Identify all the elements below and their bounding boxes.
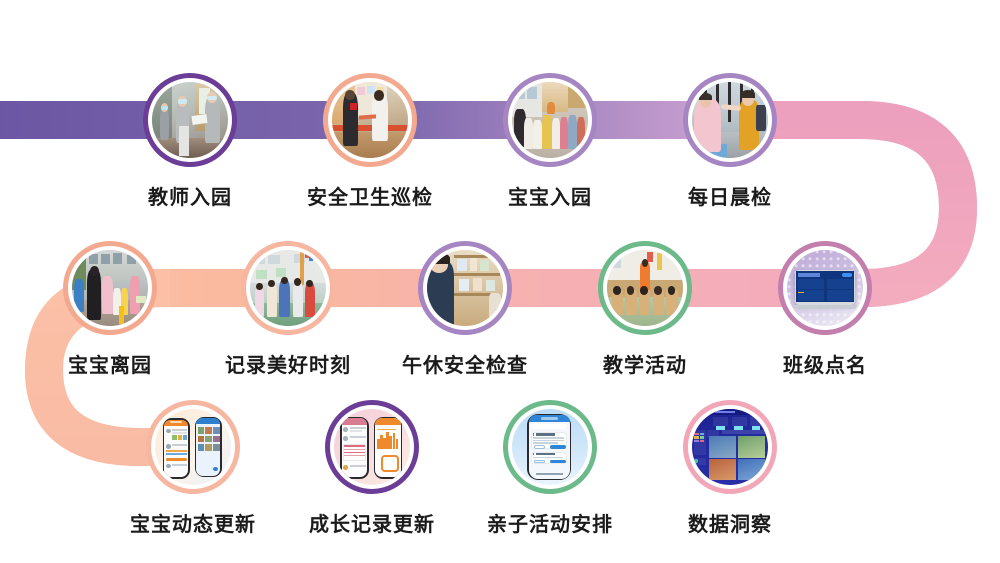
class-roll-call-screen xyxy=(787,250,863,326)
step-label-8: 记录美好时刻 xyxy=(225,349,351,378)
step-label-4: 每日晨检 xyxy=(688,181,772,210)
step-ring-5 xyxy=(778,241,872,335)
children-leaving-photo xyxy=(72,250,148,326)
step-ring-2 xyxy=(323,73,417,167)
teacher-arrival-photo xyxy=(152,82,228,158)
step-ring-7 xyxy=(418,241,512,335)
step-label-7: 午休安全检查 xyxy=(402,349,528,378)
step-ring-11 xyxy=(325,400,419,494)
step-ring-8 xyxy=(241,241,335,335)
teaching-activity-photo xyxy=(607,250,683,326)
step-ring-9 xyxy=(63,241,157,335)
growth-record-app-screen xyxy=(334,409,410,485)
safety-inspection-photo xyxy=(332,82,408,158)
step-label-9: 宝宝离园 xyxy=(68,349,152,378)
step-label-2: 安全卫生巡检 xyxy=(307,181,433,210)
step-label-13: 数据洞察 xyxy=(688,508,772,537)
happy-moments-photo xyxy=(250,250,326,326)
step-label-10: 宝宝动态更新 xyxy=(130,508,256,537)
step-label-5: 班级点名 xyxy=(783,349,867,378)
step-ring-12 xyxy=(503,400,597,494)
process-flow-diagram: 教师入园 安全卫生巡检 xyxy=(0,0,1000,563)
step-label-12: 亲子活动安排 xyxy=(487,508,613,537)
step-ring-10 xyxy=(146,400,240,494)
step-ring-4 xyxy=(683,73,777,167)
nap-safety-check-photo xyxy=(427,250,503,326)
step-ring-3 xyxy=(503,73,597,167)
step-ring-6 xyxy=(598,241,692,335)
step-ring-13 xyxy=(683,400,777,494)
morning-health-check-photo xyxy=(692,82,768,158)
baby-feed-app-screen xyxy=(155,409,231,485)
step-label-1: 教师入园 xyxy=(148,181,232,210)
data-insight-dashboard-screen xyxy=(692,409,768,485)
step-label-3: 宝宝入园 xyxy=(508,181,592,210)
step-label-6: 教学活动 xyxy=(603,349,687,378)
children-entering-photo xyxy=(512,82,588,158)
parent-child-activity-app-screen xyxy=(512,409,588,485)
step-ring-1 xyxy=(143,73,237,167)
step-label-11: 成长记录更新 xyxy=(309,508,435,537)
